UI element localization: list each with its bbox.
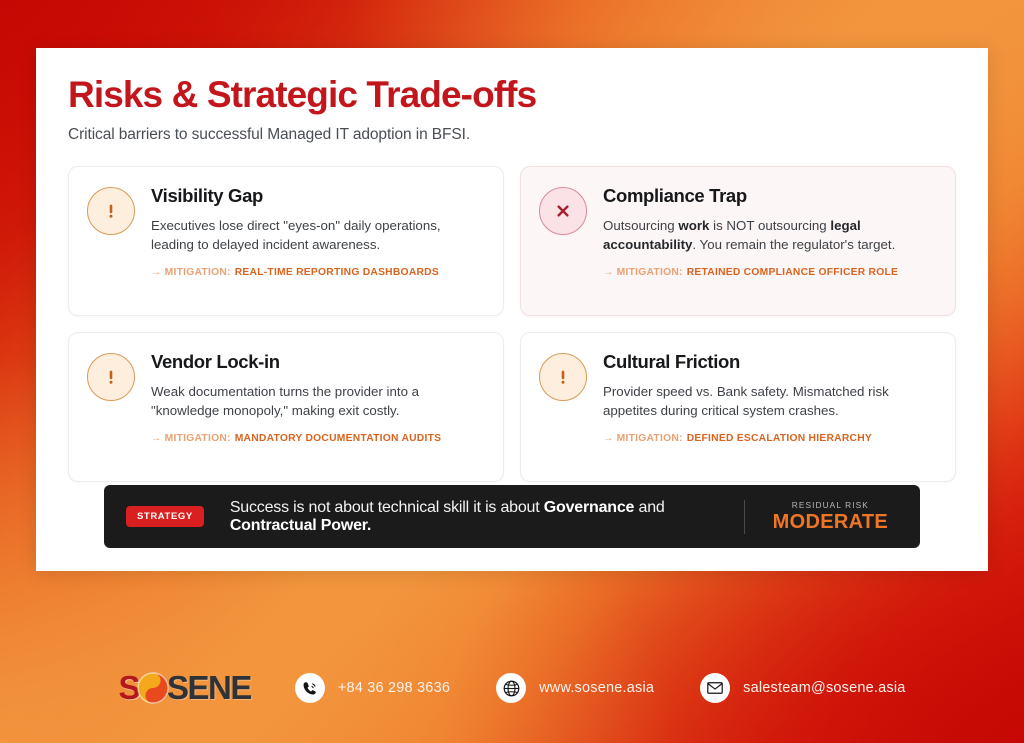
logo-text-sene: SENE (167, 669, 251, 707)
contact-phone[interactable]: +84 36 298 3636 (295, 673, 450, 703)
slide-panel: Risks & Strategic Trade-offs Critical ba… (36, 48, 988, 571)
risk-card-compliance-trap[interactable]: Compliance Trap Outsourcing work is NOT … (520, 166, 956, 316)
risk-card-mitigation: → MITIGATION:REAL-TIME REPORTING DASHBOA… (151, 267, 483, 278)
risk-card-mitigation: → MITIGATION:MANDATORY DOCUMENTATION AUD… (151, 433, 483, 444)
mitigation-label: → MITIGATION: (151, 433, 231, 444)
envelope-icon (700, 673, 730, 703)
exclamation-icon (539, 353, 587, 401)
risk-card-grid: Visibility Gap Executives lose direct "e… (68, 166, 956, 482)
strategy-badge: STRATEGY (126, 506, 204, 527)
page-title: Risks & Strategic Trade-offs (68, 74, 956, 115)
close-x-icon (539, 187, 587, 235)
risk-card-title: Vendor Lock-in (151, 351, 483, 373)
email-address: salesteam@sosene.asia (743, 680, 905, 696)
divider (744, 500, 745, 534)
exclamation-icon (87, 187, 135, 235)
risk-card-description: Weak documentation turns the provider in… (151, 382, 483, 421)
risk-card-title: Cultural Friction (603, 351, 935, 373)
website-url: www.sosene.asia (539, 680, 654, 696)
risk-card-vendor-lock-in[interactable]: Vendor Lock-in Weak documentation turns … (68, 332, 504, 482)
strategy-statement: Success is not about technical skill it … (230, 499, 726, 535)
globe-icon (496, 673, 526, 703)
phone-icon (295, 673, 325, 703)
risk-card-cultural-friction[interactable]: Cultural Friction Provider speed vs. Ban… (520, 332, 956, 482)
mitigation-label: → MITIGATION: (151, 267, 231, 278)
contact-website[interactable]: www.sosene.asia (496, 673, 654, 703)
residual-risk-label: RESIDUAL RISK (773, 500, 888, 510)
sosene-logo: S SENE (118, 669, 250, 707)
risk-card-visibility-gap[interactable]: Visibility Gap Executives lose direct "e… (68, 166, 504, 316)
exclamation-icon (87, 353, 135, 401)
residual-risk-block: RESIDUAL RISK MODERATE (763, 500, 902, 534)
contact-email[interactable]: salesteam@sosene.asia (700, 673, 905, 703)
logo-swirl-icon (136, 671, 170, 705)
risk-card-mitigation: → MITIGATION:RETAINED COMPLIANCE OFFICER… (603, 267, 935, 278)
mitigation-value: RETAINED COMPLIANCE OFFICER ROLE (687, 267, 898, 278)
mitigation-value: MANDATORY DOCUMENTATION AUDITS (235, 433, 442, 444)
mitigation-value: REAL-TIME REPORTING DASHBOARDS (235, 267, 439, 278)
footer: S SENE +84 36 298 3636 (0, 669, 1024, 707)
mitigation-label: → MITIGATION: (603, 433, 683, 444)
page-subtitle: Critical barriers to successful Managed … (68, 126, 956, 144)
mitigation-label: → MITIGATION: (603, 267, 683, 278)
risk-card-description: Provider speed vs. Bank safety. Mismatch… (603, 382, 935, 421)
strategy-banner: STRATEGY Success is not about technical … (104, 485, 920, 548)
risk-card-mitigation: → MITIGATION:DEFINED ESCALATION HIERARCH… (603, 433, 935, 444)
risk-card-description: Outsourcing work is NOT outsourcing lega… (603, 216, 935, 255)
risk-card-title: Visibility Gap (151, 185, 483, 207)
risk-card-title: Compliance Trap (603, 185, 935, 207)
phone-number: +84 36 298 3636 (338, 680, 450, 696)
risk-card-description: Executives lose direct "eyes-on" daily o… (151, 216, 483, 255)
mitigation-value: DEFINED ESCALATION HIERARCHY (687, 433, 872, 444)
residual-risk-value: MODERATE (773, 511, 888, 534)
